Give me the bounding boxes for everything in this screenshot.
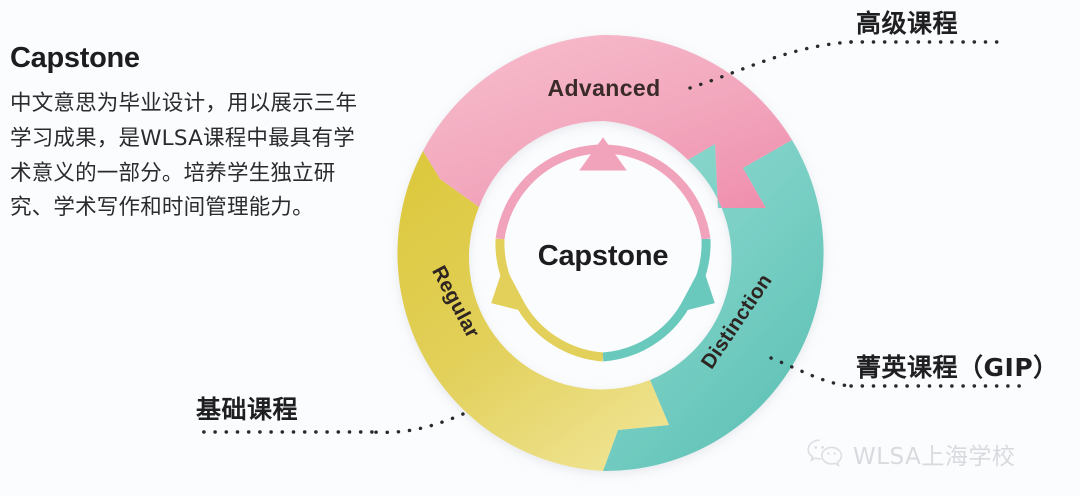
inner-ring-notch-right (685, 276, 709, 306)
segment-advanced[interactable] (423, 35, 792, 208)
center-label: Capstone (538, 240, 669, 272)
connector-regular (372, 414, 463, 432)
segment-regular[interactable] (397, 151, 669, 471)
capstone-donut-chart: Capstone Advanced Regular Distinction (0, 0, 1080, 496)
callout-label-advanced: 高级课程 (856, 4, 958, 40)
inner-ring-distinction-2 (603, 306, 685, 357)
watermark-text: WLSA上海学校 (853, 437, 1015, 471)
inner-ring-advanced-left (500, 181, 528, 239)
inner-ring-advanced-right (678, 181, 706, 239)
inner-ring-notch-left (497, 276, 521, 306)
wechat-icon (806, 438, 844, 470)
callout-label-regular: 基础课程 (196, 390, 298, 426)
watermark: WLSA上海学校 (806, 437, 1015, 471)
segment-label-advanced: Advanced (547, 75, 660, 101)
callout-label-distinction: 菁英课程（GIP） (856, 348, 1059, 384)
inner-ring-regular-2 (521, 306, 603, 357)
infographic-canvas: Capstone 中文意思为毕业设计，用以展示三年学习成果，是WLSA课程中最具… (0, 0, 1080, 496)
